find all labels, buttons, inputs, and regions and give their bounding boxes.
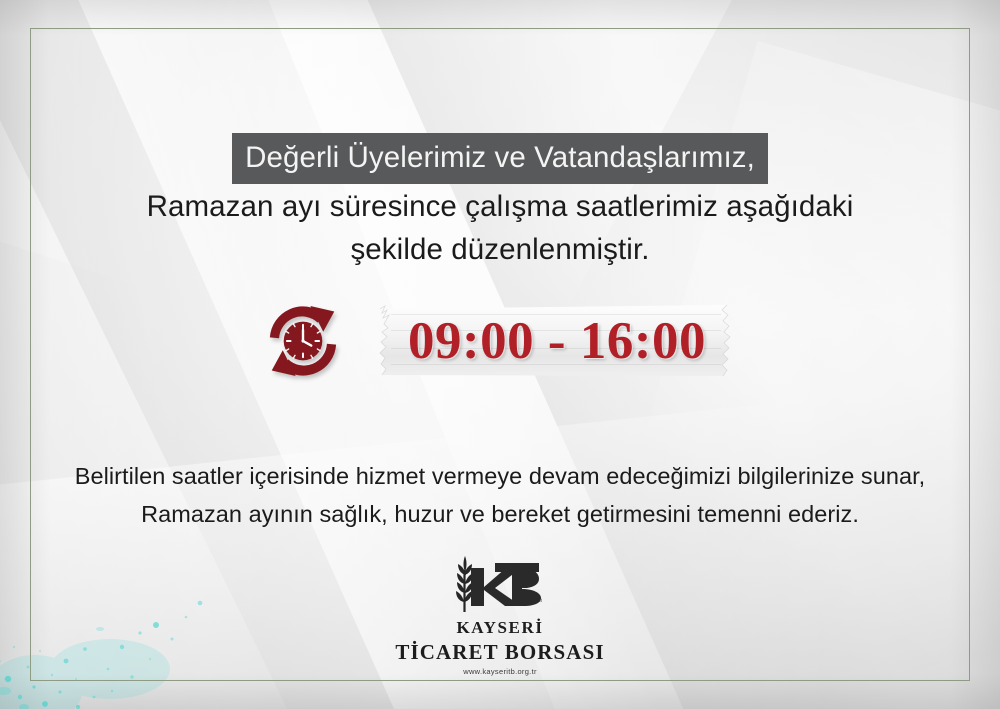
headline-block: Değerli Üyelerimiz ve Vatandaşlarımız, R… bbox=[0, 133, 1000, 271]
logo-year: 1913 bbox=[532, 599, 543, 604]
organization-logo: 1913 KAYSERİ TİCARET BORSASI www.kayseri… bbox=[0, 552, 1000, 676]
logo-org-name: KAYSERİ bbox=[456, 618, 543, 639]
poster-content: Değerli Üyelerimiz ve Vatandaşlarımız, R… bbox=[0, 0, 1000, 709]
headline-line-3: şekilde düzenlenmiştir. bbox=[0, 229, 1000, 271]
announcement-poster: Değerli Üyelerimiz ve Vatandaşlarımız, R… bbox=[0, 0, 1000, 709]
logo-website-url: www.kayseritb.org.tr bbox=[463, 667, 537, 676]
refresh-clock-icon bbox=[257, 295, 349, 387]
headline-line-2: Ramazan ayı süresince çalışma saatlerimi… bbox=[0, 186, 1000, 228]
ktb-monogram-icon: 1913 bbox=[429, 552, 571, 616]
wheat-stalk-icon bbox=[456, 556, 473, 612]
message-line-1: Belirtilen saatler içerisinde hizmet ver… bbox=[0, 457, 1000, 495]
torn-paper-strip: 09:00 - 16:00 bbox=[371, 304, 743, 378]
logo-org-subtitle: TİCARET BORSASI bbox=[395, 640, 604, 664]
message-block: Belirtilen saatler içerisinde hizmet ver… bbox=[0, 457, 1000, 533]
working-hours-row: 09:00 - 16:00 bbox=[0, 295, 1000, 387]
message-line-2: Ramazan ayının sağlık, huzur ve bereket … bbox=[0, 495, 1000, 533]
working-hours-value: 09:00 - 16:00 bbox=[408, 311, 706, 371]
headline-emphasis: Değerli Üyelerimiz ve Vatandaşlarımız, bbox=[232, 133, 768, 184]
